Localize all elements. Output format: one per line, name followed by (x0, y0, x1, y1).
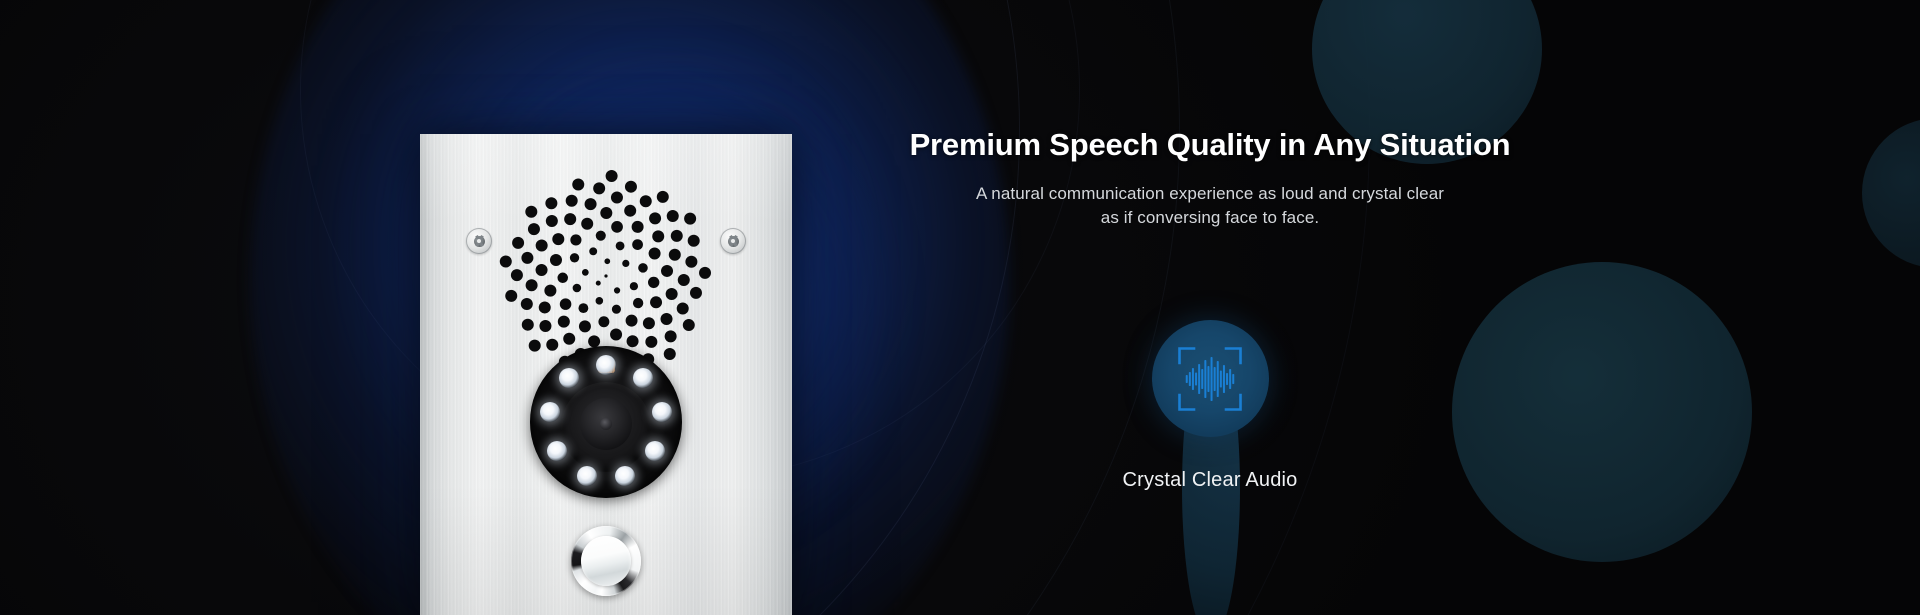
page-title: Premium Speech Quality in Any Situation (880, 127, 1540, 164)
feature-block: Crystal Clear Audio (880, 320, 1540, 492)
subtitle-line-2: as if conversing face to face. (880, 206, 1540, 230)
screw-center (477, 239, 481, 243)
ir-led-5 (577, 466, 597, 486)
ir-led-8 (559, 368, 579, 388)
camera-lens-aperture (600, 418, 612, 430)
call-button[interactable] (571, 526, 641, 596)
page-subtitle: A natural communication experience as lo… (880, 182, 1540, 230)
screw-left-icon (466, 228, 492, 254)
ir-led-2 (652, 402, 672, 422)
hero-banner: Premium Speech Quality in Any Situation … (0, 0, 1920, 615)
ir-led-3 (645, 441, 665, 461)
screw-head (474, 236, 485, 247)
ir-led-4 (615, 466, 635, 486)
screw-center (731, 239, 735, 243)
subtitle-line-1: A natural communication experience as lo… (880, 182, 1540, 206)
ir-led-6 (547, 441, 567, 461)
audio-waveform-icon (1152, 320, 1269, 437)
feature-label: Crystal Clear Audio (1123, 469, 1298, 492)
camera-lens-barrel (561, 382, 651, 472)
camera-lens-glass (580, 398, 632, 450)
hero-content: Premium Speech Quality in Any Situation … (880, 0, 1540, 615)
ir-led-7 (540, 402, 560, 422)
ir-led-1 (633, 368, 653, 388)
screw-right-icon (720, 228, 746, 254)
call-button-face (581, 536, 631, 586)
screw-head (728, 236, 739, 247)
ir-led-9 (596, 355, 616, 375)
intercom-device-panel (420, 134, 792, 615)
camera-module (530, 346, 682, 498)
